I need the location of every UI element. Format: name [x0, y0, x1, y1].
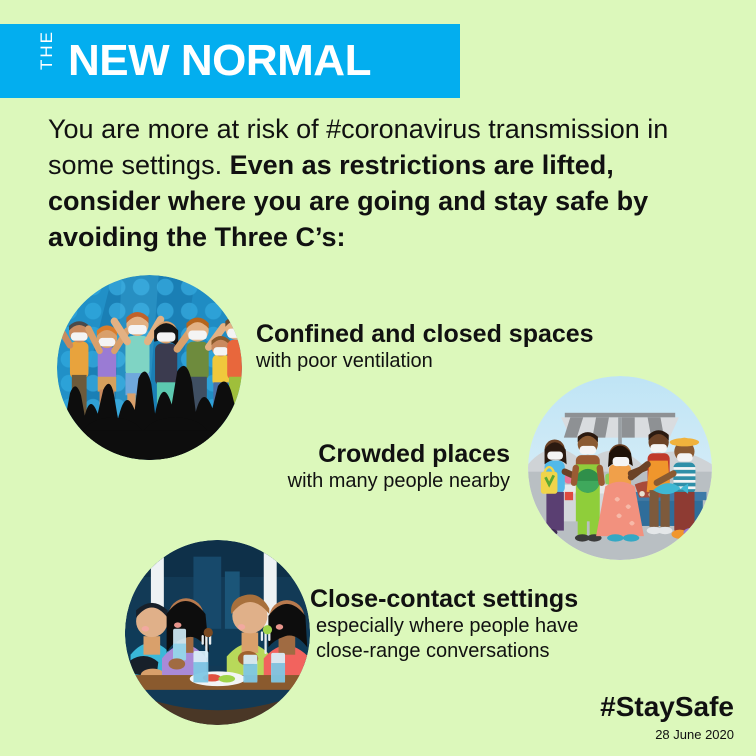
- c-subtitle-confined: with poor ventilation: [256, 349, 594, 375]
- c-block-crowded: Crowded places with many people nearby: [288, 440, 510, 494]
- publication-date: 28 June 2020: [600, 727, 734, 742]
- nightclub-crowd-illustration: [57, 275, 242, 460]
- c-title-crowded: Crowded places: [288, 440, 510, 469]
- hashtag-staysafe: #StaySafe: [600, 692, 734, 723]
- banner-title: NEW NORMAL: [68, 36, 371, 86]
- c-title-confined: Confined and closed spaces: [256, 320, 594, 349]
- banner-kicker-the: THE: [37, 52, 57, 70]
- c-block-close-contact: Close-contact settings especially where …: [310, 585, 578, 665]
- footer: #StaySafe 28 June 2020: [600, 692, 734, 742]
- c-block-confined: Confined and closed spaces with poor ven…: [256, 320, 594, 374]
- c-subtitle-close-contact-line1: especially where people have: [310, 614, 578, 640]
- c-subtitle-crowded: with many people nearby: [288, 469, 510, 495]
- c-subtitle-close-contact-line2: close-range conversations: [310, 639, 578, 665]
- poster-canvas: THE NEW NORMAL You are more at risk of #…: [0, 0, 756, 756]
- outdoor-market-illustration: [528, 376, 712, 560]
- header-banner: THE NEW NORMAL: [0, 24, 460, 98]
- dining-table-illustration: [125, 540, 310, 725]
- lede-paragraph: You are more at risk of #coronavirus tra…: [48, 112, 720, 256]
- c-title-close-contact: Close-contact settings: [310, 585, 578, 614]
